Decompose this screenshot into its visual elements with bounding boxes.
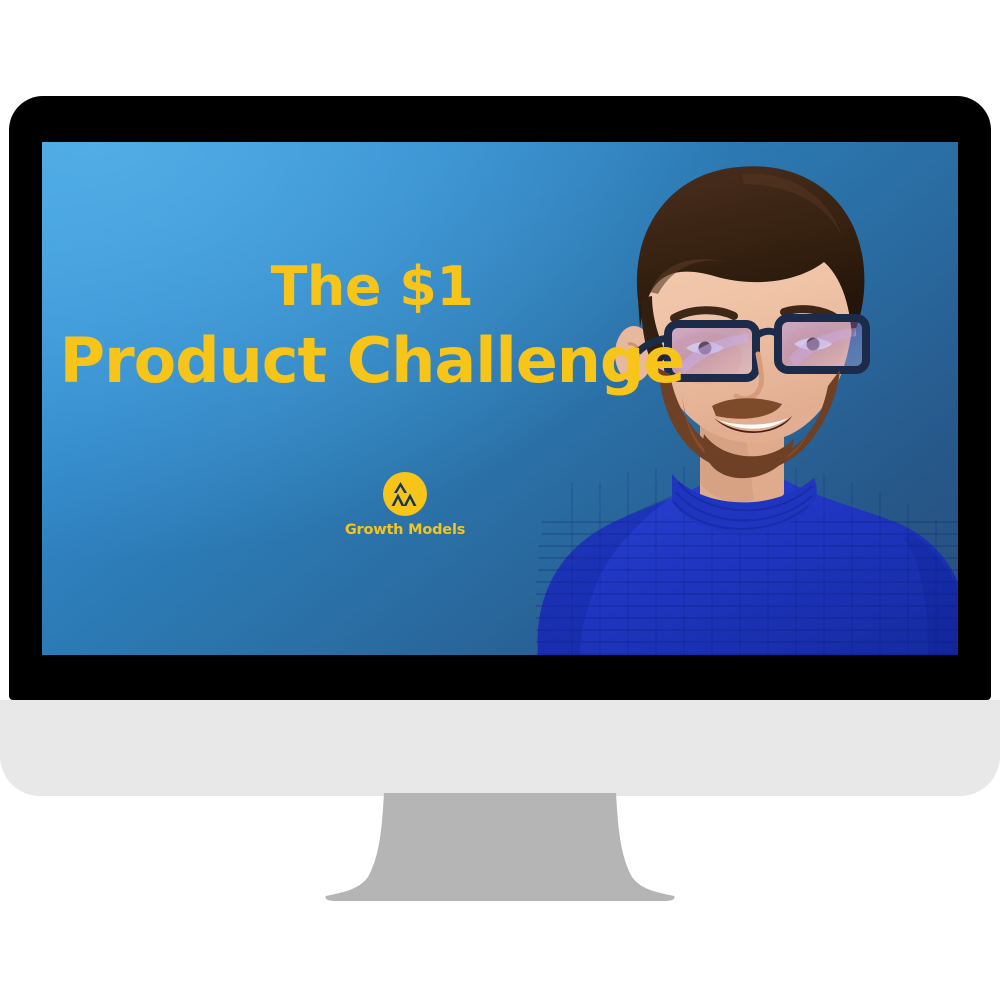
monitor-screen[interactable]: The $1 Product Challenge Growth Models	[42, 142, 958, 655]
scene-root: The $1 Product Challenge Growth Models	[0, 0, 1000, 1000]
desktop-monitor: The $1 Product Challenge Growth Models	[0, 0, 1000, 1000]
brand-lockup: Growth Models	[340, 472, 470, 538]
double-peak-mountain-icon	[383, 472, 427, 516]
presenter-glasses	[638, 318, 866, 378]
monitor-chin	[0, 700, 1000, 796]
presenter-photo	[442, 142, 958, 655]
presenter-head	[615, 166, 866, 478]
brand-name: Growth Models	[340, 522, 470, 538]
monitor-stand	[320, 793, 680, 903]
